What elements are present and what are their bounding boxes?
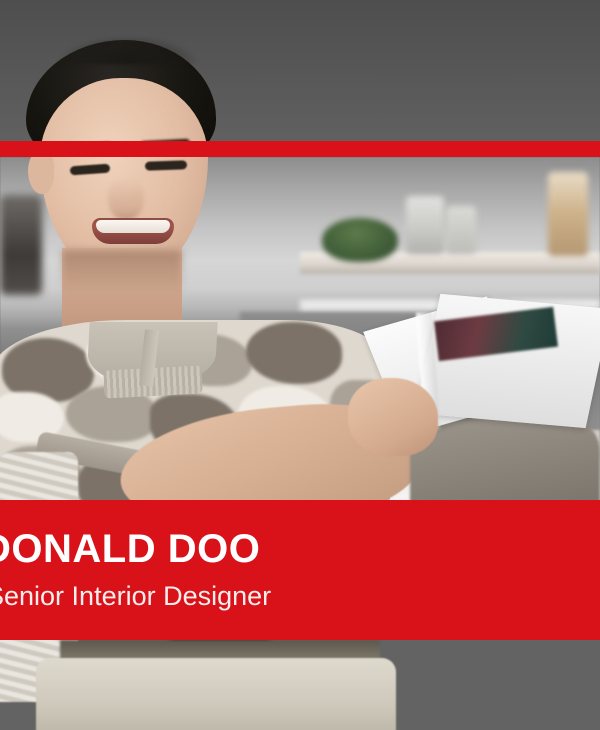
teeth xyxy=(96,220,170,233)
neck-shadow xyxy=(62,250,182,294)
mouth xyxy=(92,218,174,244)
top-accent-band xyxy=(0,141,600,157)
camo-blob xyxy=(246,322,342,384)
hair-detail xyxy=(58,36,198,64)
profile-name: DONALD DOO xyxy=(0,527,600,572)
eye xyxy=(145,160,187,170)
floor-area xyxy=(392,636,600,730)
seat-cushion xyxy=(36,658,396,730)
profile-card: DONALD DOO Senior Interior Designer xyxy=(0,0,600,730)
hand xyxy=(348,378,438,456)
nose xyxy=(108,178,144,220)
profile-role: Senior Interior Designer xyxy=(0,581,600,612)
